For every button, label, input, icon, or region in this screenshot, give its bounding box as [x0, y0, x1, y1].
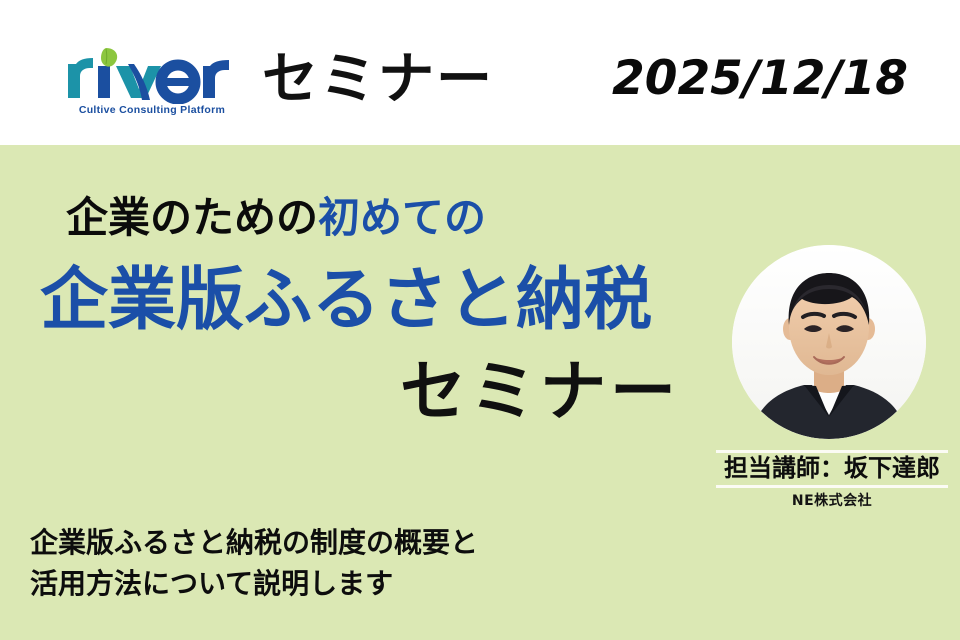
river-logo: Cultive Consulting Platform	[62, 44, 242, 126]
speaker-caption: 担当講師：坂下達郎 NE株式会社	[716, 450, 948, 509]
speaker-company: NE株式会社	[716, 488, 948, 510]
description-line-1: 企業版ふるさと納税の制度の概要と	[30, 523, 478, 564]
seminar-date: 2025/12/18	[612, 55, 908, 102]
seminar-banner: Cultive Consulting Platform セミナー 2025/12…	[0, 0, 960, 640]
logo-tagline: Cultive Consulting Platform	[62, 104, 242, 116]
title-line-1: 企業のための初めての	[66, 197, 486, 239]
banner-body: 企業のための初めての 企業版ふるさと納税 セミナー 企業版ふるさと納税の制度の概…	[0, 145, 960, 640]
seminar-description: 企業版ふるさと納税の制度の概要と 活用方法について説明します	[30, 523, 478, 604]
title-line-1-plain: 企業のための	[66, 193, 318, 242]
header-seminar-label: セミナー	[262, 52, 494, 108]
speaker-name: 担当講師：坂下達郎	[716, 453, 948, 485]
speaker-portrait-icon	[732, 245, 926, 439]
title-line-3: セミナー	[380, 358, 700, 424]
speaker-avatar	[732, 245, 926, 439]
title-line-1-accent: 初めての	[318, 193, 486, 242]
description-line-2: 活用方法について説明します	[30, 564, 478, 605]
title-line-2: 企業版ふるさと納税	[40, 267, 652, 335]
speaker-block: 担当講師：坂下達郎 NE株式会社	[710, 245, 950, 505]
river-wordmark-icon	[62, 44, 242, 104]
banner-header: Cultive Consulting Platform セミナー 2025/12…	[0, 0, 960, 145]
